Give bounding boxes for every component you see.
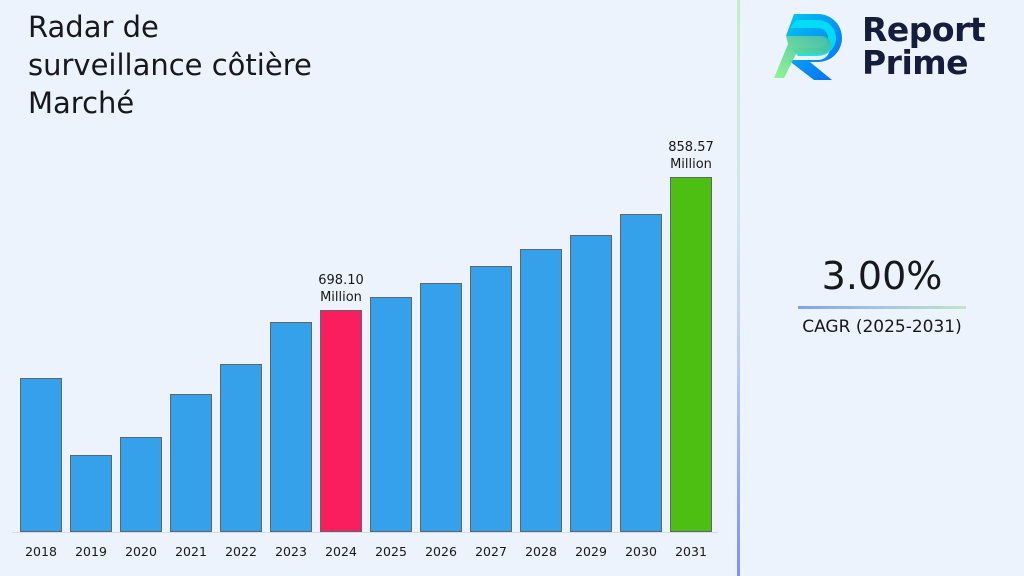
bar-2026 <box>420 283 462 532</box>
x-axis-tick-2019: 2019 <box>66 544 116 559</box>
bar-2020 <box>120 437 162 532</box>
x-axis-tick-2020: 2020 <box>116 544 166 559</box>
bar-2031 <box>670 177 712 532</box>
bar-value-label-2031: 858.57 Million <box>636 139 746 173</box>
x-axis-tick-2025: 2025 <box>366 544 416 559</box>
x-axis-tick-2031: 2031 <box>666 544 716 559</box>
x-axis-tick-2026: 2026 <box>416 544 466 559</box>
bar-2030 <box>620 214 662 532</box>
chart-plot-area: 698.10 Million858.57 Million <box>0 130 738 532</box>
x-axis-tick-2028: 2028 <box>516 544 566 559</box>
report-prime-r-logo-icon <box>774 8 848 84</box>
x-axis-tick-2022: 2022 <box>216 544 266 559</box>
x-axis-tick-2030: 2030 <box>616 544 666 559</box>
bar-2023 <box>270 322 312 532</box>
bar-2019 <box>70 455 112 532</box>
cagr-divider-rule <box>798 306 966 309</box>
cagr-caption: CAGR (2025-2031) <box>740 315 1024 339</box>
bar-2027 <box>470 266 512 532</box>
bar-2024 <box>320 310 362 532</box>
chart-panel: Radar de surveillance côtière Marché 698… <box>0 0 738 576</box>
x-axis-tick-2024: 2024 <box>316 544 366 559</box>
bar-2021 <box>170 394 212 532</box>
cagr-block: 3.00% CAGR (2025-2031) <box>740 252 1024 339</box>
cagr-value: 3.00% <box>740 252 1024 300</box>
x-axis-tick-2029: 2029 <box>566 544 616 559</box>
bar-2029 <box>570 235 612 532</box>
brand-panel: Report Prime 3.00% CAGR (2025-2031) <box>740 0 1024 576</box>
x-axis-tick-2023: 2023 <box>266 544 316 559</box>
bar-2018 <box>20 378 62 532</box>
x-axis-labels: 2018201920202021202220232024202520262027… <box>0 532 738 576</box>
x-axis-tick-2021: 2021 <box>166 544 216 559</box>
bar-2022 <box>220 364 262 532</box>
bar-2028 <box>520 249 562 532</box>
x-axis-tick-2027: 2027 <box>466 544 516 559</box>
bar-chart: 698.10 Million858.57 Million 20182019202… <box>0 130 738 576</box>
report-prime-logo: Report Prime <box>774 8 985 84</box>
bar-2025 <box>370 297 412 532</box>
logo-wordmark: Report Prime <box>862 13 985 79</box>
page-title: Radar de surveillance côtière Marché <box>28 8 458 122</box>
x-axis-tick-2018: 2018 <box>16 544 66 559</box>
